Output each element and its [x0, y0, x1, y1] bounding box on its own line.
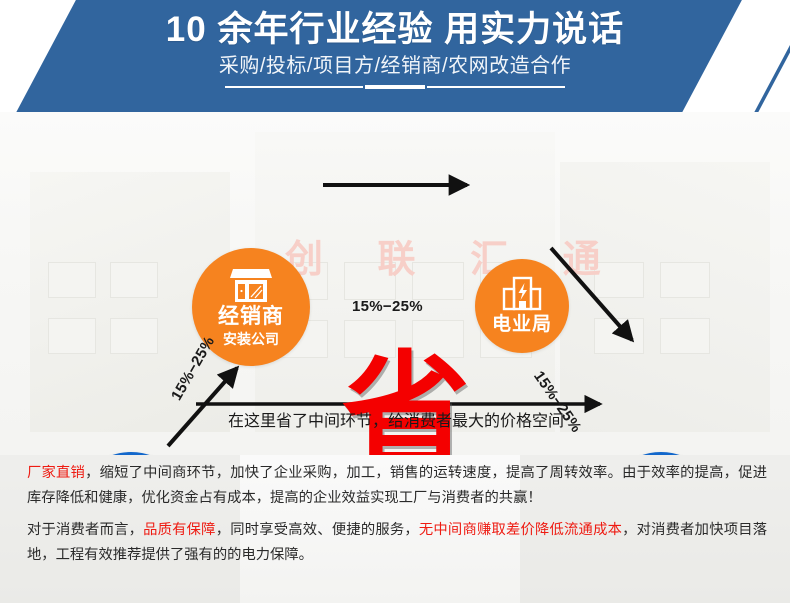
header-subtitle: 采购/投标/项目方/经销商/农网改造合作: [219, 53, 571, 80]
arrow-label-dealer-to-bureau: 15%−25%: [352, 298, 423, 315]
backdrop-window: [110, 318, 158, 354]
description-paragraph-1: 厂家直销，缩短了中间商环节，加快了企业采购，加工，销售的运转速度，提高了周转效率…: [27, 461, 767, 511]
paragraph-2-mid: ，同时享受高效、便捷的服务，: [216, 522, 419, 538]
distribution-diagram: 创 联 汇 通 省: [0, 112, 790, 455]
header-divider-right-line: [427, 86, 565, 88]
header-divider: [225, 85, 565, 89]
paragraph-2-highlight-2: 无中间商赚取差价降低流通成本: [419, 522, 622, 538]
description-section: 厂家直销，缩短了中间商环节，加快了企业采购，加工，销售的运转速度，提高了周转效率…: [0, 455, 790, 603]
power-building-icon: [501, 276, 543, 312]
backdrop-window: [110, 262, 158, 298]
promo-banner-page: 10 余年行业经验 用实力说话 采购/投标/项目方/经销商/农网改造合作: [0, 0, 790, 603]
background-watermark: 创 联 汇 通: [285, 228, 615, 283]
description-paragraph-2: 对于消费者而言，品质有保障，同时享受高效、便捷的服务，无中间商赚取差价降低流通成…: [27, 518, 767, 568]
shop-icon: [229, 266, 273, 304]
header-content: 10 余年行业经验 用实力说话 采购/投标/项目方/经销商/农网改造合作: [0, 0, 790, 112]
header-title: 10 余年行业经验 用实力说话: [166, 9, 624, 51]
paragraph-1-highlight: 厂家直销: [27, 465, 85, 481]
backdrop-window: [660, 318, 710, 354]
paragraph-1-body: ，缩短了中间商环节，加快了企业采购，加工，销售的运转速度，提高了周转效率。由于效…: [27, 465, 767, 506]
save-character: 省: [316, 350, 496, 455]
header-divider-center-block: [365, 85, 425, 89]
page-header: 10 余年行业经验 用实力说话 采购/投标/项目方/经销商/农网改造合作: [0, 0, 790, 112]
backdrop-window: [660, 262, 710, 298]
paragraph-2-lead: 对于消费者而言，: [27, 522, 143, 538]
node-dealer-sublabel: 安装公司: [223, 330, 279, 348]
backdrop-window: [594, 318, 644, 354]
arrow-label-company-to-consumer: 在这里省了中间环节，给消费者最大的价格空间: [196, 411, 596, 433]
backdrop-window: [48, 318, 96, 354]
node-bureau-label: 电业局: [492, 314, 552, 336]
backdrop-window: [48, 262, 96, 298]
node-bureau[interactable]: 电业局: [475, 259, 569, 353]
paragraph-2-highlight-1: 品质有保障: [143, 522, 216, 538]
header-divider-left-line: [225, 86, 363, 88]
node-dealer-label: 经销商: [218, 305, 284, 329]
